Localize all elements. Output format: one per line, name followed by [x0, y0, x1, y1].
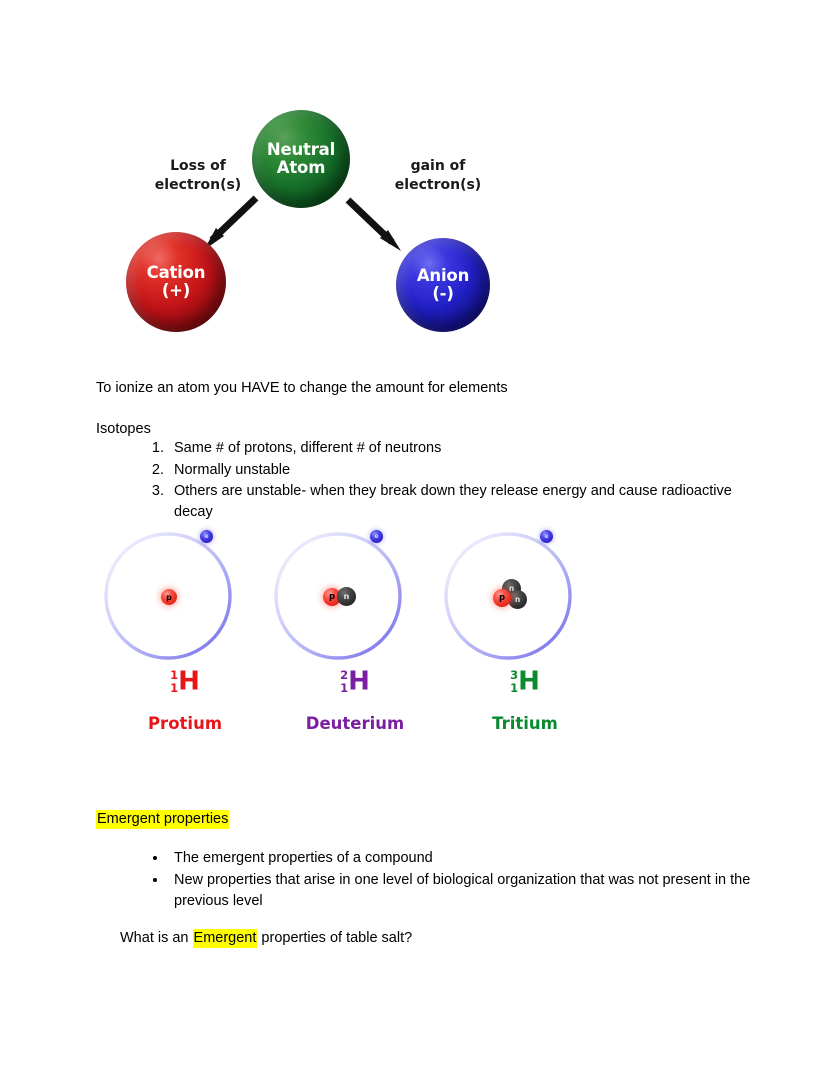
emergent-properties-heading: Emergent properties	[96, 809, 229, 830]
element-symbol: H	[178, 667, 200, 697]
question-suffix: properties of table salt?	[257, 930, 412, 946]
anion-line2: (-)	[432, 285, 453, 303]
atom-diagram-protium: p e 1 1 H Protium	[96, 524, 274, 744]
list-item: Same # of protons, different # of neutro…	[168, 438, 768, 459]
electron-particle: e	[200, 530, 213, 543]
ion-formation-diagram: Neutral Atom Cation (+) Anion (-) Loss o…	[96, 100, 516, 350]
neutral-atom-line2: Atom	[277, 159, 325, 177]
nucleus-tritium: n n p	[436, 524, 576, 664]
isotope-name-deuterium: Deuterium	[266, 714, 444, 733]
neutral-atom-sphere: Neutral Atom	[252, 110, 350, 208]
isotopes-heading: Isotopes	[96, 419, 496, 440]
list-item: Others are unstable- when they break dow…	[168, 481, 768, 523]
emergent-properties-list: The emergent properties of a compound Ne…	[130, 848, 808, 912]
loss-label-line1: Loss of	[138, 157, 258, 176]
isotope-symbol-tritium: 3 1 H	[436, 668, 614, 695]
isotope-symbol-deuterium: 2 1 H	[266, 668, 444, 695]
isotope-symbol-protium: 1 1 H	[96, 668, 274, 695]
cation-line1: Cation	[147, 264, 206, 282]
neutral-atom-line1: Neutral	[267, 141, 335, 159]
arrow-to-anion	[348, 200, 401, 251]
atomic-number: 1	[340, 681, 348, 695]
anion-line1: Anion	[417, 267, 469, 285]
proton-particle: p	[161, 589, 177, 605]
hydrogen-isotopes-figure: p e 1 1 H Protium p n e	[96, 524, 626, 744]
gain-label-line1: gain of	[378, 157, 498, 176]
list-item: The emergent properties of a compound	[168, 848, 808, 869]
ionize-statement: To ionize an atom you HAVE to change the…	[96, 378, 736, 399]
question-prefix: What is an	[120, 930, 193, 946]
electron-particle: e	[370, 530, 383, 543]
isotopes-list: Same # of protons, different # of neutro…	[130, 438, 768, 524]
anion-sphere: Anion (-)	[396, 238, 490, 332]
proton-particle: p	[493, 589, 511, 607]
atom-diagram-deuterium: p n e 2 1 H Deuterium	[266, 524, 444, 744]
atom-diagram-tritium: n n p e 3 1 H Tritium	[436, 524, 614, 744]
arrow-to-cation	[204, 198, 256, 250]
gain-label-line2: electron(s)	[378, 176, 498, 195]
nucleus-deuterium: p n	[266, 524, 406, 664]
atomic-number: 1	[510, 681, 518, 695]
emergent-heading-highlight: Emergent properties	[96, 810, 229, 829]
element-symbol: H	[348, 667, 370, 697]
isotope-name-tritium: Tritium	[436, 714, 614, 733]
list-item: New properties that arise in one level o…	[168, 870, 808, 912]
loss-label-line2: electron(s)	[138, 176, 258, 195]
electron-particle: e	[540, 530, 553, 543]
cation-line2: (+)	[162, 282, 190, 300]
question-highlight-word: Emergent	[193, 929, 258, 948]
nucleus-protium: p	[96, 524, 236, 664]
list-item: Normally unstable	[168, 460, 768, 481]
cation-sphere: Cation (+)	[126, 232, 226, 332]
gain-of-electrons-label: gain of electron(s)	[378, 157, 498, 195]
isotope-name-protium: Protium	[96, 714, 274, 733]
emergent-question-line: What is an Emergent properties of table …	[120, 928, 760, 949]
atomic-number: 1	[170, 681, 178, 695]
loss-of-electrons-label: Loss of electron(s)	[138, 157, 258, 195]
neutron-particle: n	[337, 587, 356, 606]
element-symbol: H	[518, 667, 540, 697]
